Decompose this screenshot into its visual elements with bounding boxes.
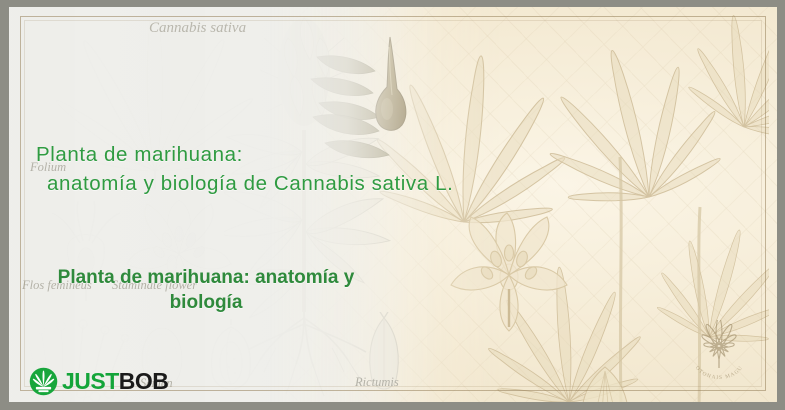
logo-word-just: JUST [62,368,119,394]
botanical-stamp: BOTONAIS MAGUS [685,320,753,382]
logo-word-bob: BOB [119,368,169,394]
illustration-page: Cannabis sativa Folium Flos femineus Sta… [9,7,777,402]
logo-wordmark: JUSTBOB [62,367,168,396]
banner-image: Cannabis sativa Folium Flos femineus Sta… [0,0,785,410]
subheading-line-2: biología [170,292,243,313]
label-rictumis: Rictumis [355,375,399,390]
cannabis-leaf-circle-icon [29,367,58,396]
botanical-illustration [9,7,777,402]
achene-seed-specimen [357,23,427,133]
seed-cross-section-specimen [199,319,263,399]
cannabis-leaf-emblem-icon [701,320,737,368]
headline-line-1: Planta de marihuana: [36,143,243,166]
headline: Planta de marihuana: anatomía y biología… [36,140,453,198]
subheading-line-1: Planta de marihuana: anatomía y [58,267,355,288]
headline-line-2: anatomía y biología de Cannabis sativa L… [47,169,453,198]
justbob-logo[interactable]: JUSTBOB [29,367,168,396]
plate-species-caption: Cannabis sativa [149,20,246,37]
subheading: Planta de marihuana: anatomía y biología [31,265,381,315]
